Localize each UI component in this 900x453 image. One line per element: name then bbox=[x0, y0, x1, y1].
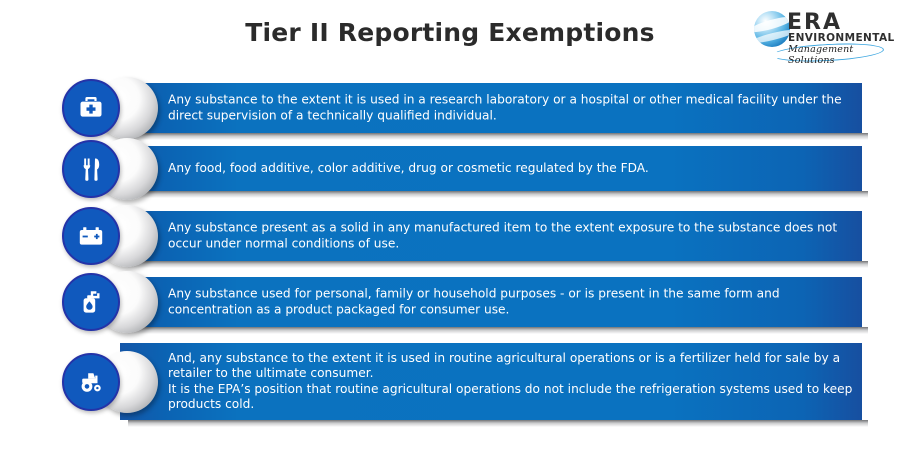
list-item: Any food, food additive, color additive,… bbox=[0, 146, 900, 191]
row-text: Any substance used for personal, family … bbox=[168, 286, 858, 317]
row-shadow bbox=[128, 420, 868, 427]
list-item: And, any substance to the extent it is u… bbox=[0, 343, 900, 420]
row-paragraph: Any substance to the extent it is used i… bbox=[168, 92, 858, 123]
list-item: Any substance used for personal, family … bbox=[0, 277, 900, 327]
list-item: Any substance present as a solid in any … bbox=[0, 211, 900, 261]
row-paragraph: Any food, food additive, color additive,… bbox=[168, 161, 858, 177]
row-shadow bbox=[128, 191, 868, 198]
fork-and-knife-icon bbox=[62, 140, 120, 198]
row-paragraph: Any substance used for personal, family … bbox=[168, 286, 858, 317]
row-shadow bbox=[128, 133, 868, 140]
row-shadow bbox=[128, 261, 868, 268]
list-item: Any substance to the extent it is used i… bbox=[0, 83, 900, 133]
row-text: Any food, food additive, color additive,… bbox=[168, 161, 858, 177]
row-text: And, any substance to the extent it is u… bbox=[168, 350, 858, 412]
first-aid-kit-icon bbox=[62, 79, 120, 137]
row-paragraph: It is the EPA’s position that routine ag… bbox=[168, 382, 858, 413]
row-text: Any substance present as a solid in any … bbox=[168, 220, 858, 251]
soap-dispenser-icon bbox=[62, 273, 120, 331]
tractor-icon bbox=[62, 353, 120, 411]
row-shadow bbox=[128, 327, 868, 334]
exemption-list: Any substance to the extent it is used i… bbox=[0, 0, 900, 453]
battery-icon bbox=[62, 207, 120, 265]
row-text: Any substance to the extent it is used i… bbox=[168, 92, 858, 123]
row-paragraph: And, any substance to the extent it is u… bbox=[168, 350, 858, 381]
row-paragraph: Any substance present as a solid in any … bbox=[168, 220, 858, 251]
